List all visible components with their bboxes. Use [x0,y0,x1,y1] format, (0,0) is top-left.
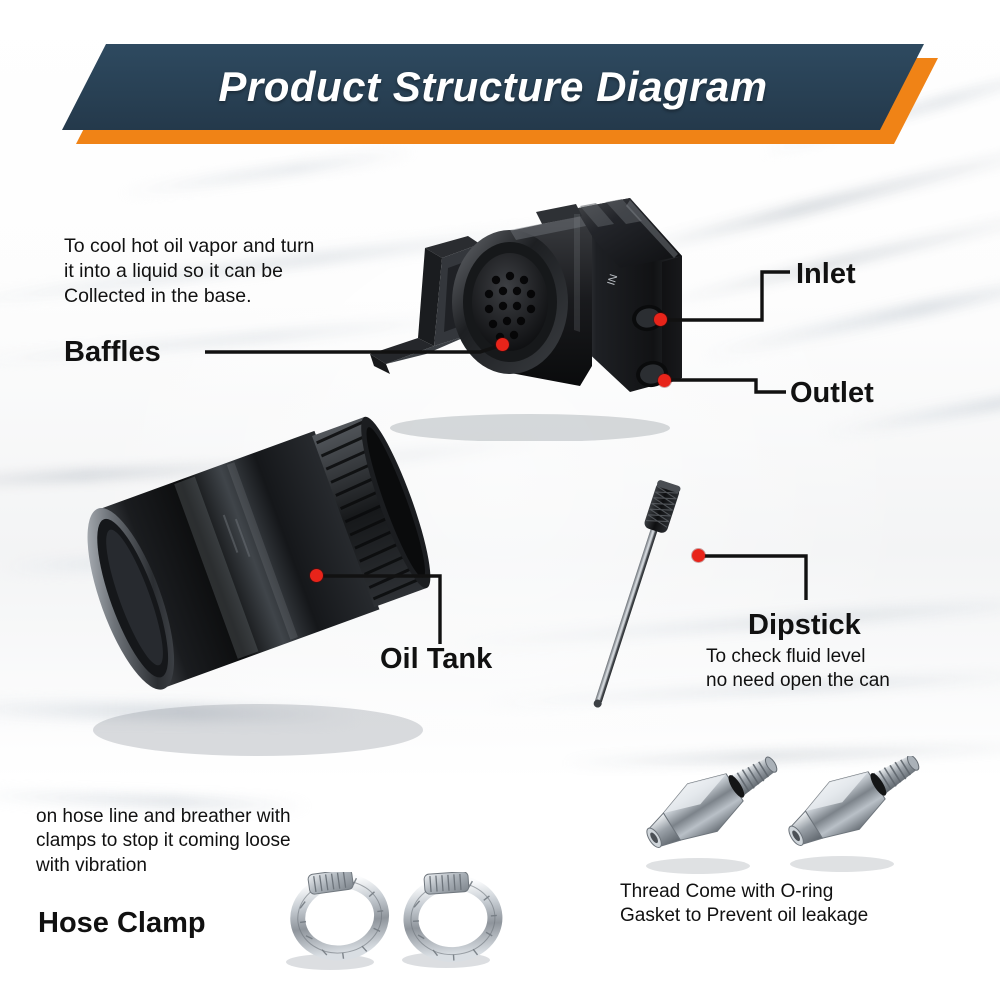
leader-dipstick [700,556,806,600]
diagram-canvas: Product Structure Diagram [0,0,1000,1000]
leader-inlet [662,272,790,320]
dipstick-label: Dipstick [748,607,861,644]
leader-outlet [666,380,786,392]
fittings-description: Thread Come with O-ring Gasket to Preven… [620,880,950,929]
dipstick-description: To check fluid level no need open the ca… [706,645,976,694]
callout-dot-baffles [496,338,509,351]
callout-dot-dipstick [692,549,705,562]
hose-clamp-description: on hose line and breather with clamps to… [36,805,376,878]
hose-clamp-label: Hose Clamp [38,905,206,942]
leader-oil-tank [318,576,440,644]
leader-baffles [205,344,505,352]
baffles-label: Baffles [64,334,161,371]
callout-dot-outlet [658,374,671,387]
inlet-label: Inlet [796,256,856,293]
oil-tank-label: Oil Tank [380,641,492,678]
callout-dot-oil-tank [310,569,323,582]
baffles-description: To cool hot oil vapor and turn it into a… [64,234,394,309]
outlet-label: Outlet [790,375,874,412]
callout-dot-inlet [654,313,667,326]
